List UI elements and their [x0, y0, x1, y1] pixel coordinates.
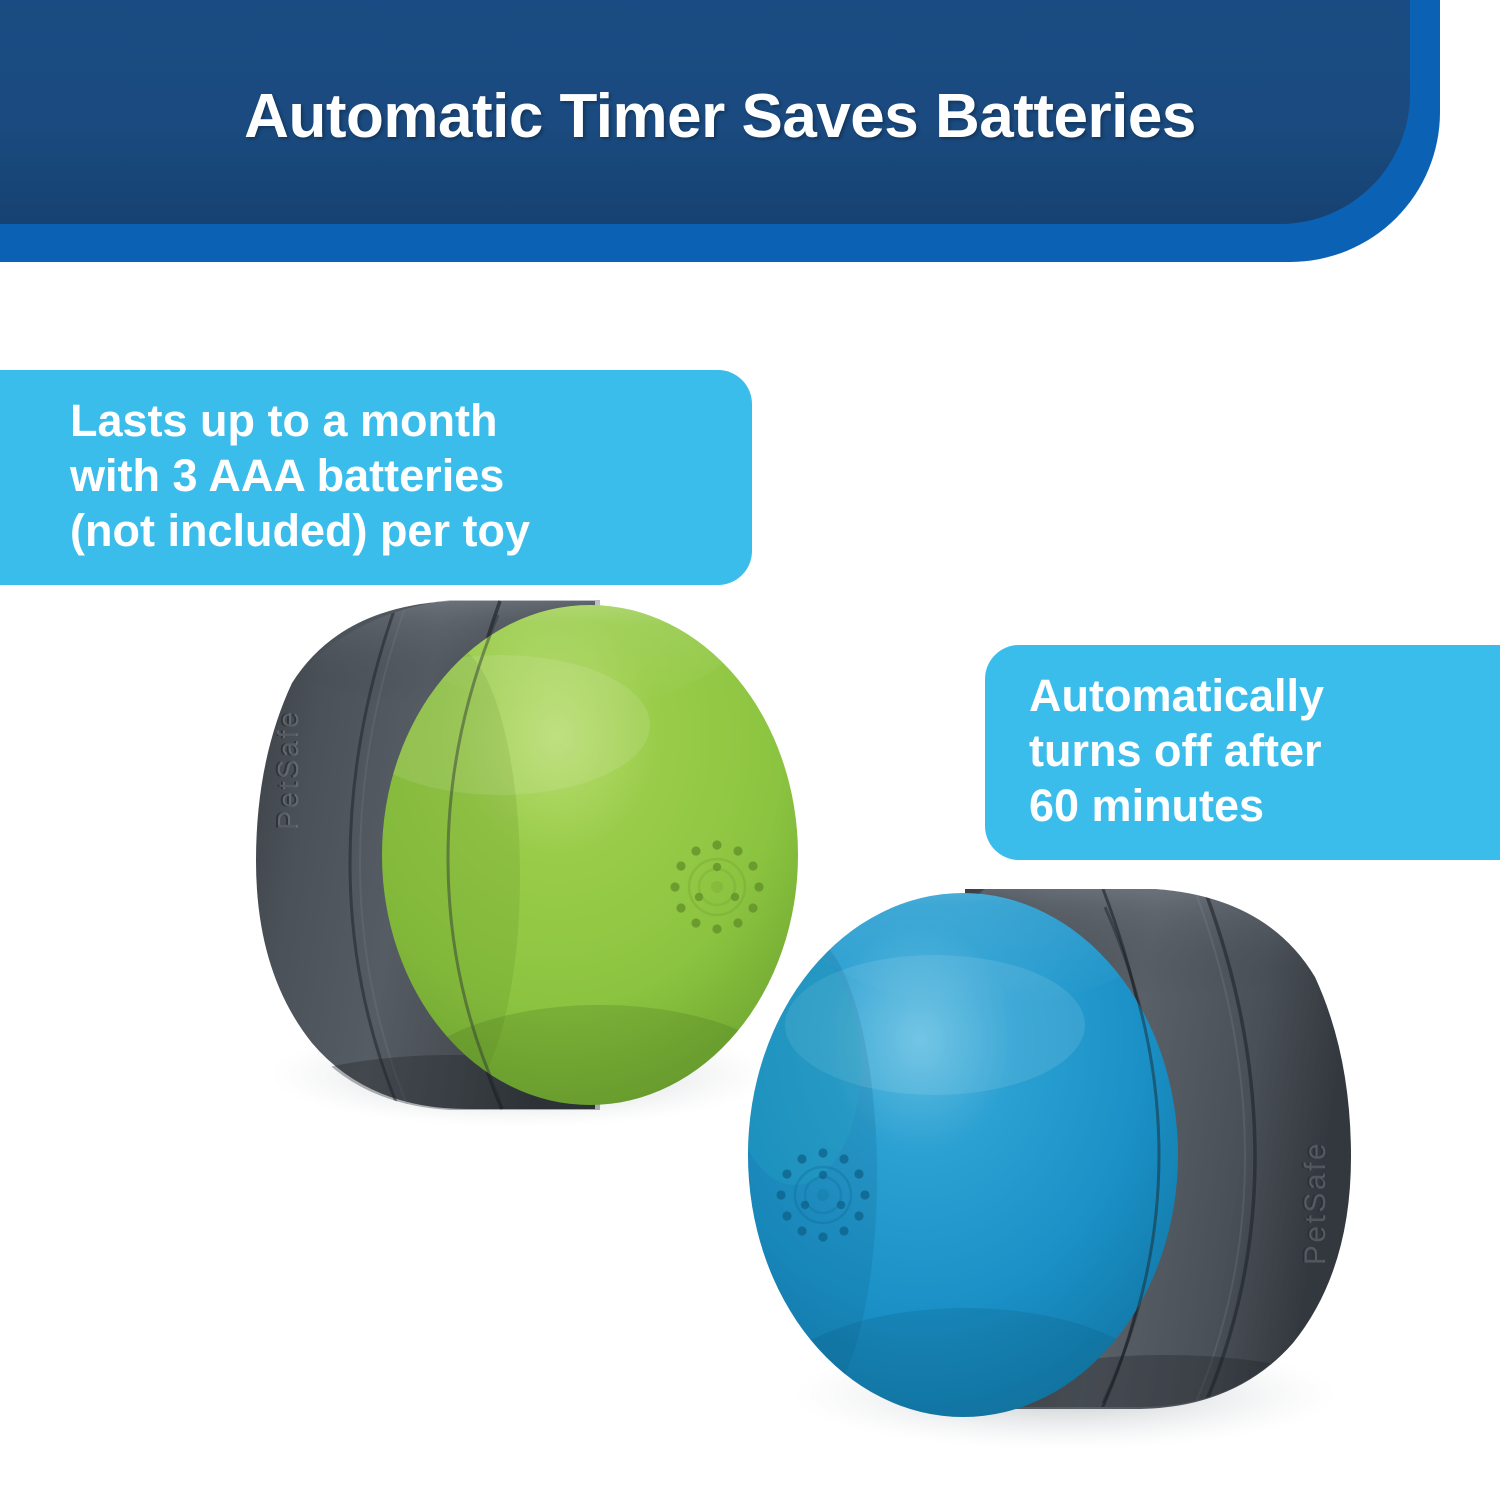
product-feature-image: PetSafe PetSafe — [0, 0, 1500, 1500]
svg-text:PetSafe: PetSafe — [1299, 1141, 1332, 1265]
callout-battery-line-1: Lasts up to a month — [70, 394, 724, 449]
page-title: Automatic Timer Saves Batteries — [0, 84, 1440, 149]
callout-shutoff-line-3: 60 minutes — [1029, 779, 1500, 834]
callout-auto-shutoff: Automatically turns off after 60 minutes — [985, 645, 1500, 860]
callout-shutoff-line-1: Automatically — [1029, 669, 1500, 724]
product-blue-ball: PetSafe PetSafe — [735, 855, 1415, 1455]
callout-battery-line-3: (not included) per toy — [70, 504, 724, 559]
callout-shutoff-line-2: turns off after — [1029, 724, 1500, 779]
header-banner: Automatic Timer Saves Batteries — [0, 0, 1500, 270]
callout-battery-life: Lasts up to a month with 3 AAA batteries… — [0, 370, 752, 585]
callout-battery-line-2: with 3 AAA batteries — [70, 449, 724, 504]
